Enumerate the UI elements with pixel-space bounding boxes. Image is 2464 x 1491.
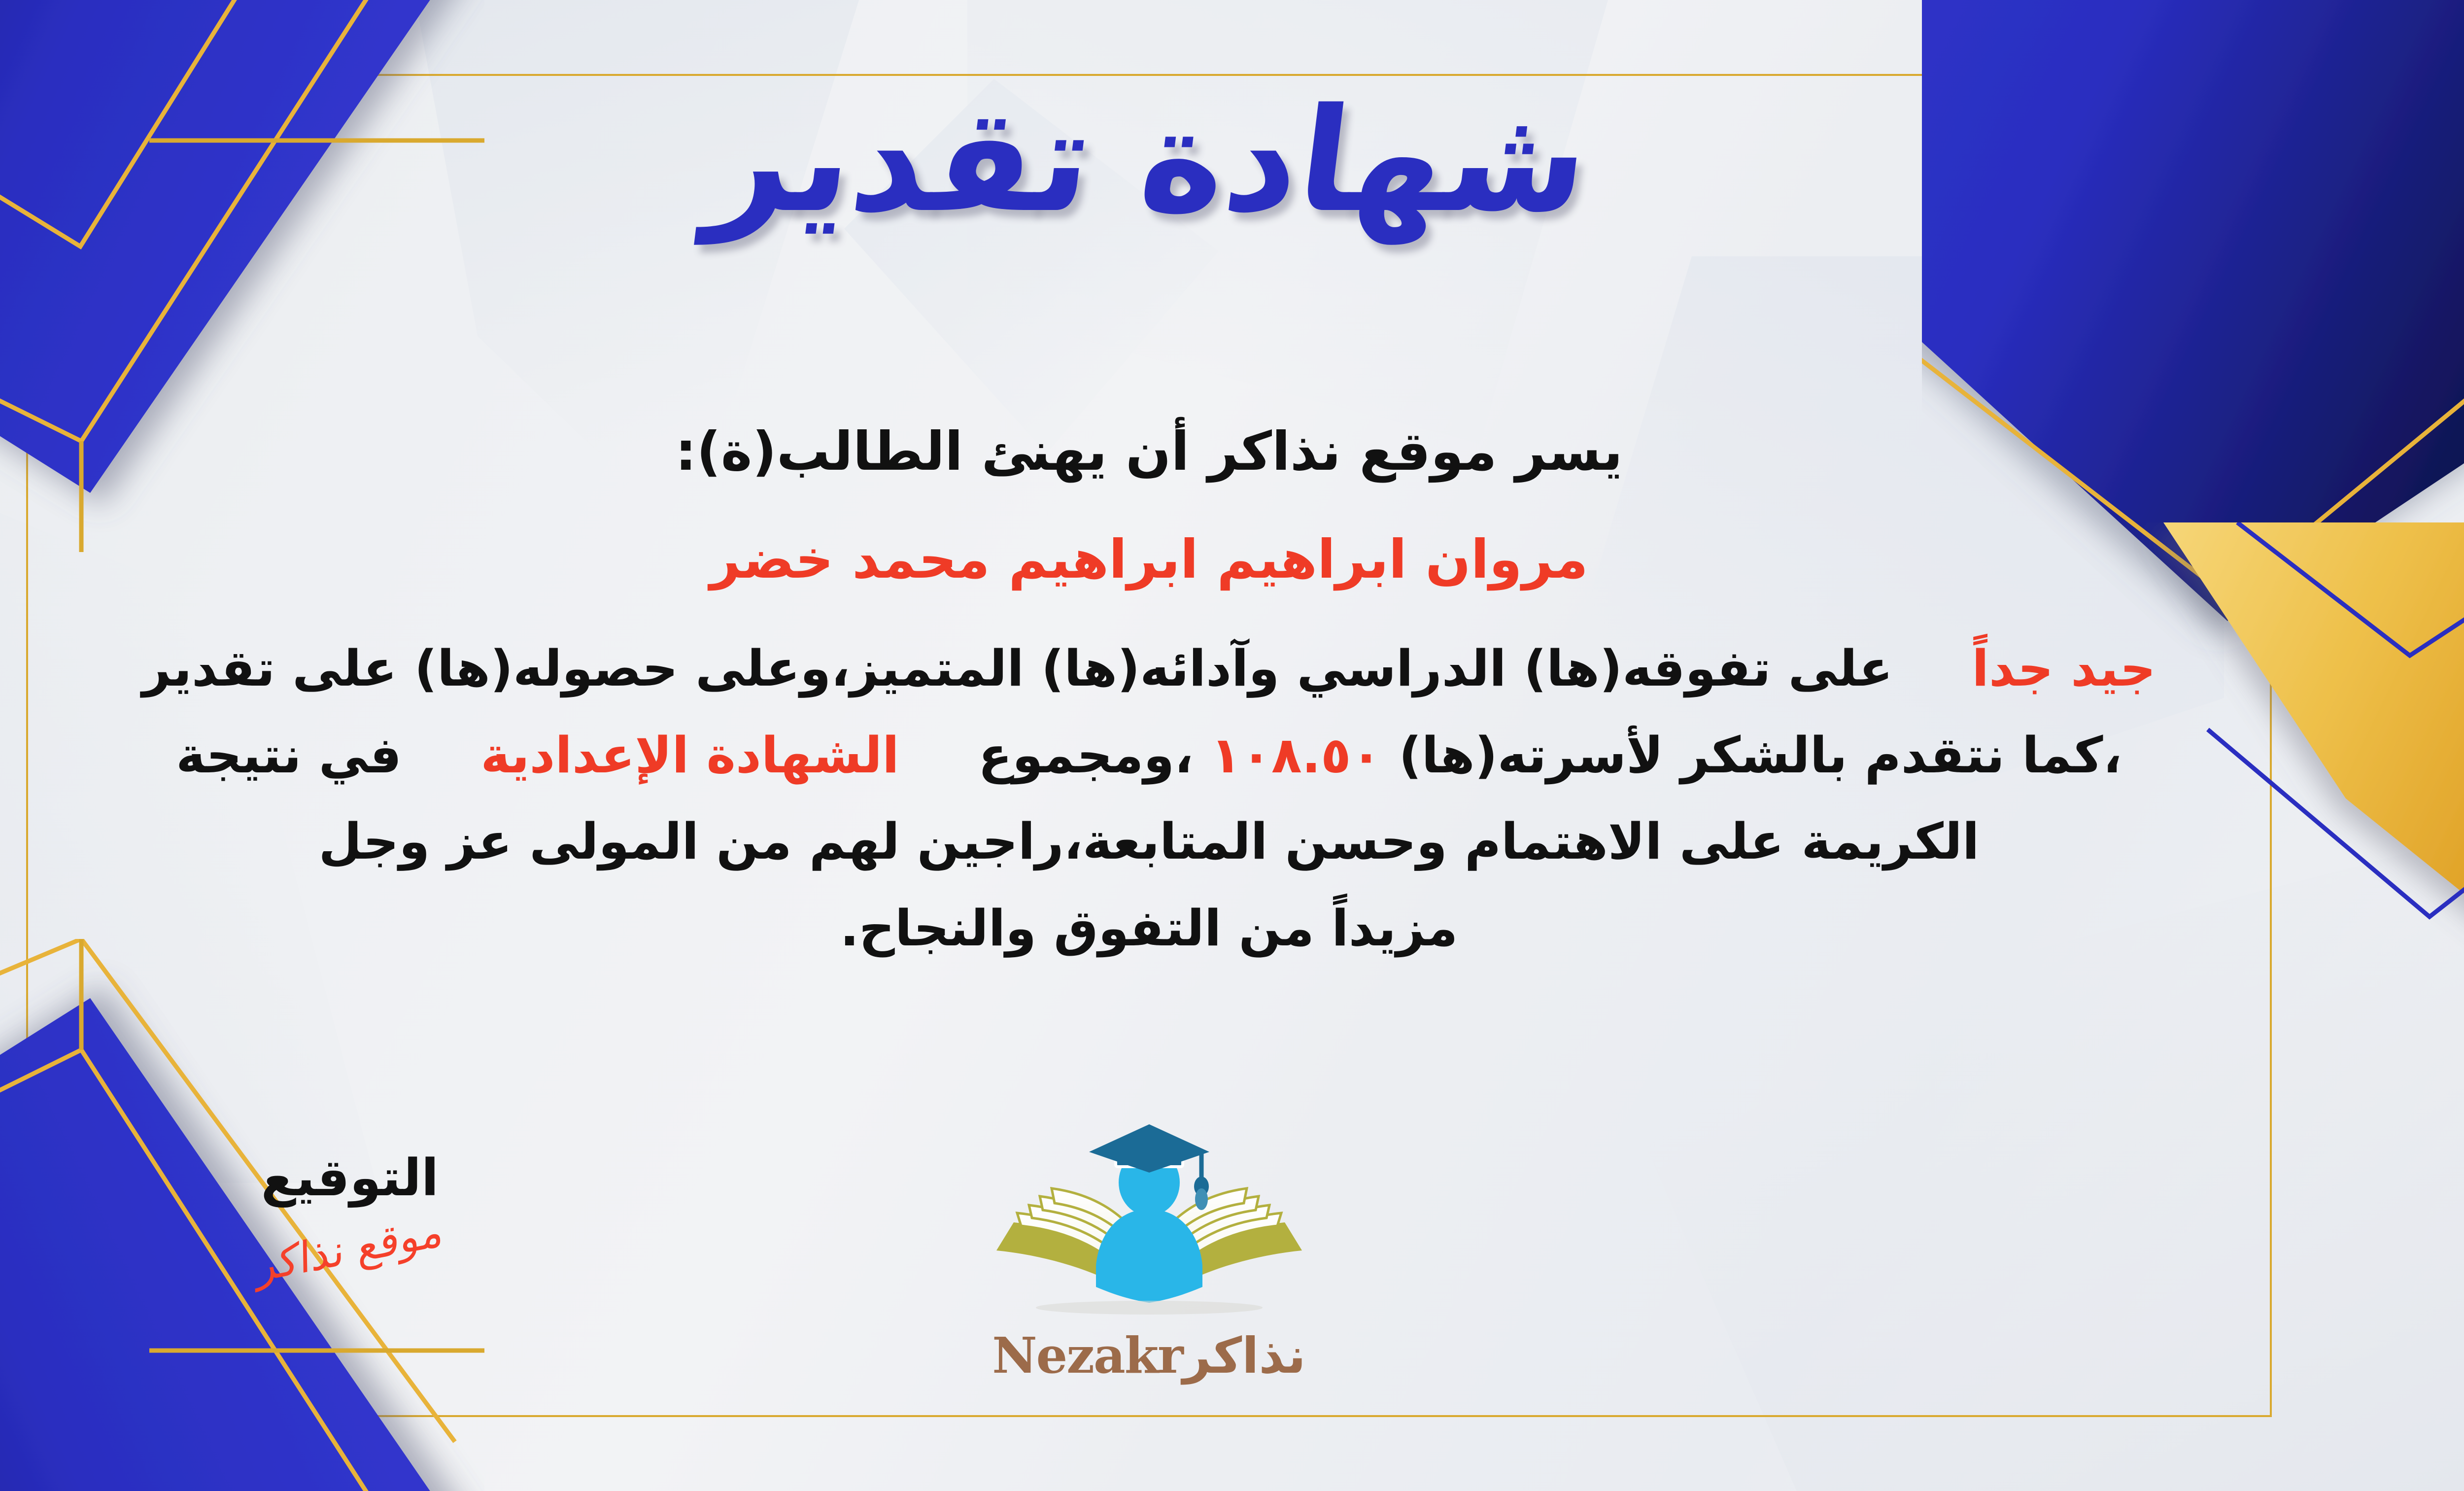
grade-value: جيد جداً (1972, 639, 2156, 697)
signature-mark: موقع نذاكر (256, 1206, 444, 1292)
achievement-line: جيد جداً على تفوقه(ها) الدراسي وآدائه(ها… (41, 629, 2257, 709)
signature-block: التوقيع موقع نذاكر (192, 1148, 508, 1274)
greeting-line: يسر موقع نذاكر أن يهنئ الطالب(ة): (41, 409, 2257, 495)
total-score-value: ١٠٨.٥٠ (1211, 726, 1382, 784)
student-name: مروان ابراهيم ابراهيم محمد خضر (41, 517, 2257, 603)
exam-name: الشهادة الإعدادية (480, 726, 899, 784)
logo-wordmark: نذاكرNezakr (962, 1326, 1336, 1385)
total-label: ،ومجموع (978, 726, 1194, 784)
graduate-book-logo-icon (987, 1121, 1312, 1323)
gratitude-line: الكريمة على الاهتمام وحسن المتابعة،راجين… (41, 802, 2257, 882)
achievement-text: على تفوقه(ها) الدراسي وآدائه(ها) المتميز… (142, 639, 1893, 697)
certificate-title-block: شهادة تقدير (0, 86, 2464, 237)
family-thanks-text: ،كما نتقدم بالشكر لأسرته(ها) (1399, 726, 2122, 784)
certificate-body: يسر موقع نذاكر أن يهنئ الطالب(ة): مروان … (41, 409, 2257, 975)
certificate-page: شهادة تقدير يسر موقع نذاكر أن يهنئ الطال… (0, 0, 2464, 1491)
signature-label: التوقيع (192, 1148, 508, 1208)
page-title: شهادة تقدير (701, 86, 1597, 237)
site-logo: نذاكرNezakr (962, 1121, 1336, 1385)
exam-result-line: ،كما نتقدم بالشكر لأسرته(ها) ١٠٨.٥٠ ،ومج… (41, 716, 2257, 796)
wishes-line: مزيداً من التفوق والنجاح. (41, 889, 2257, 969)
logo-name-arabic: نذاكر (1183, 1327, 1306, 1385)
result-prefix: في نتيجة (176, 726, 402, 784)
logo-name-latin: Nezakr (992, 1326, 1183, 1385)
